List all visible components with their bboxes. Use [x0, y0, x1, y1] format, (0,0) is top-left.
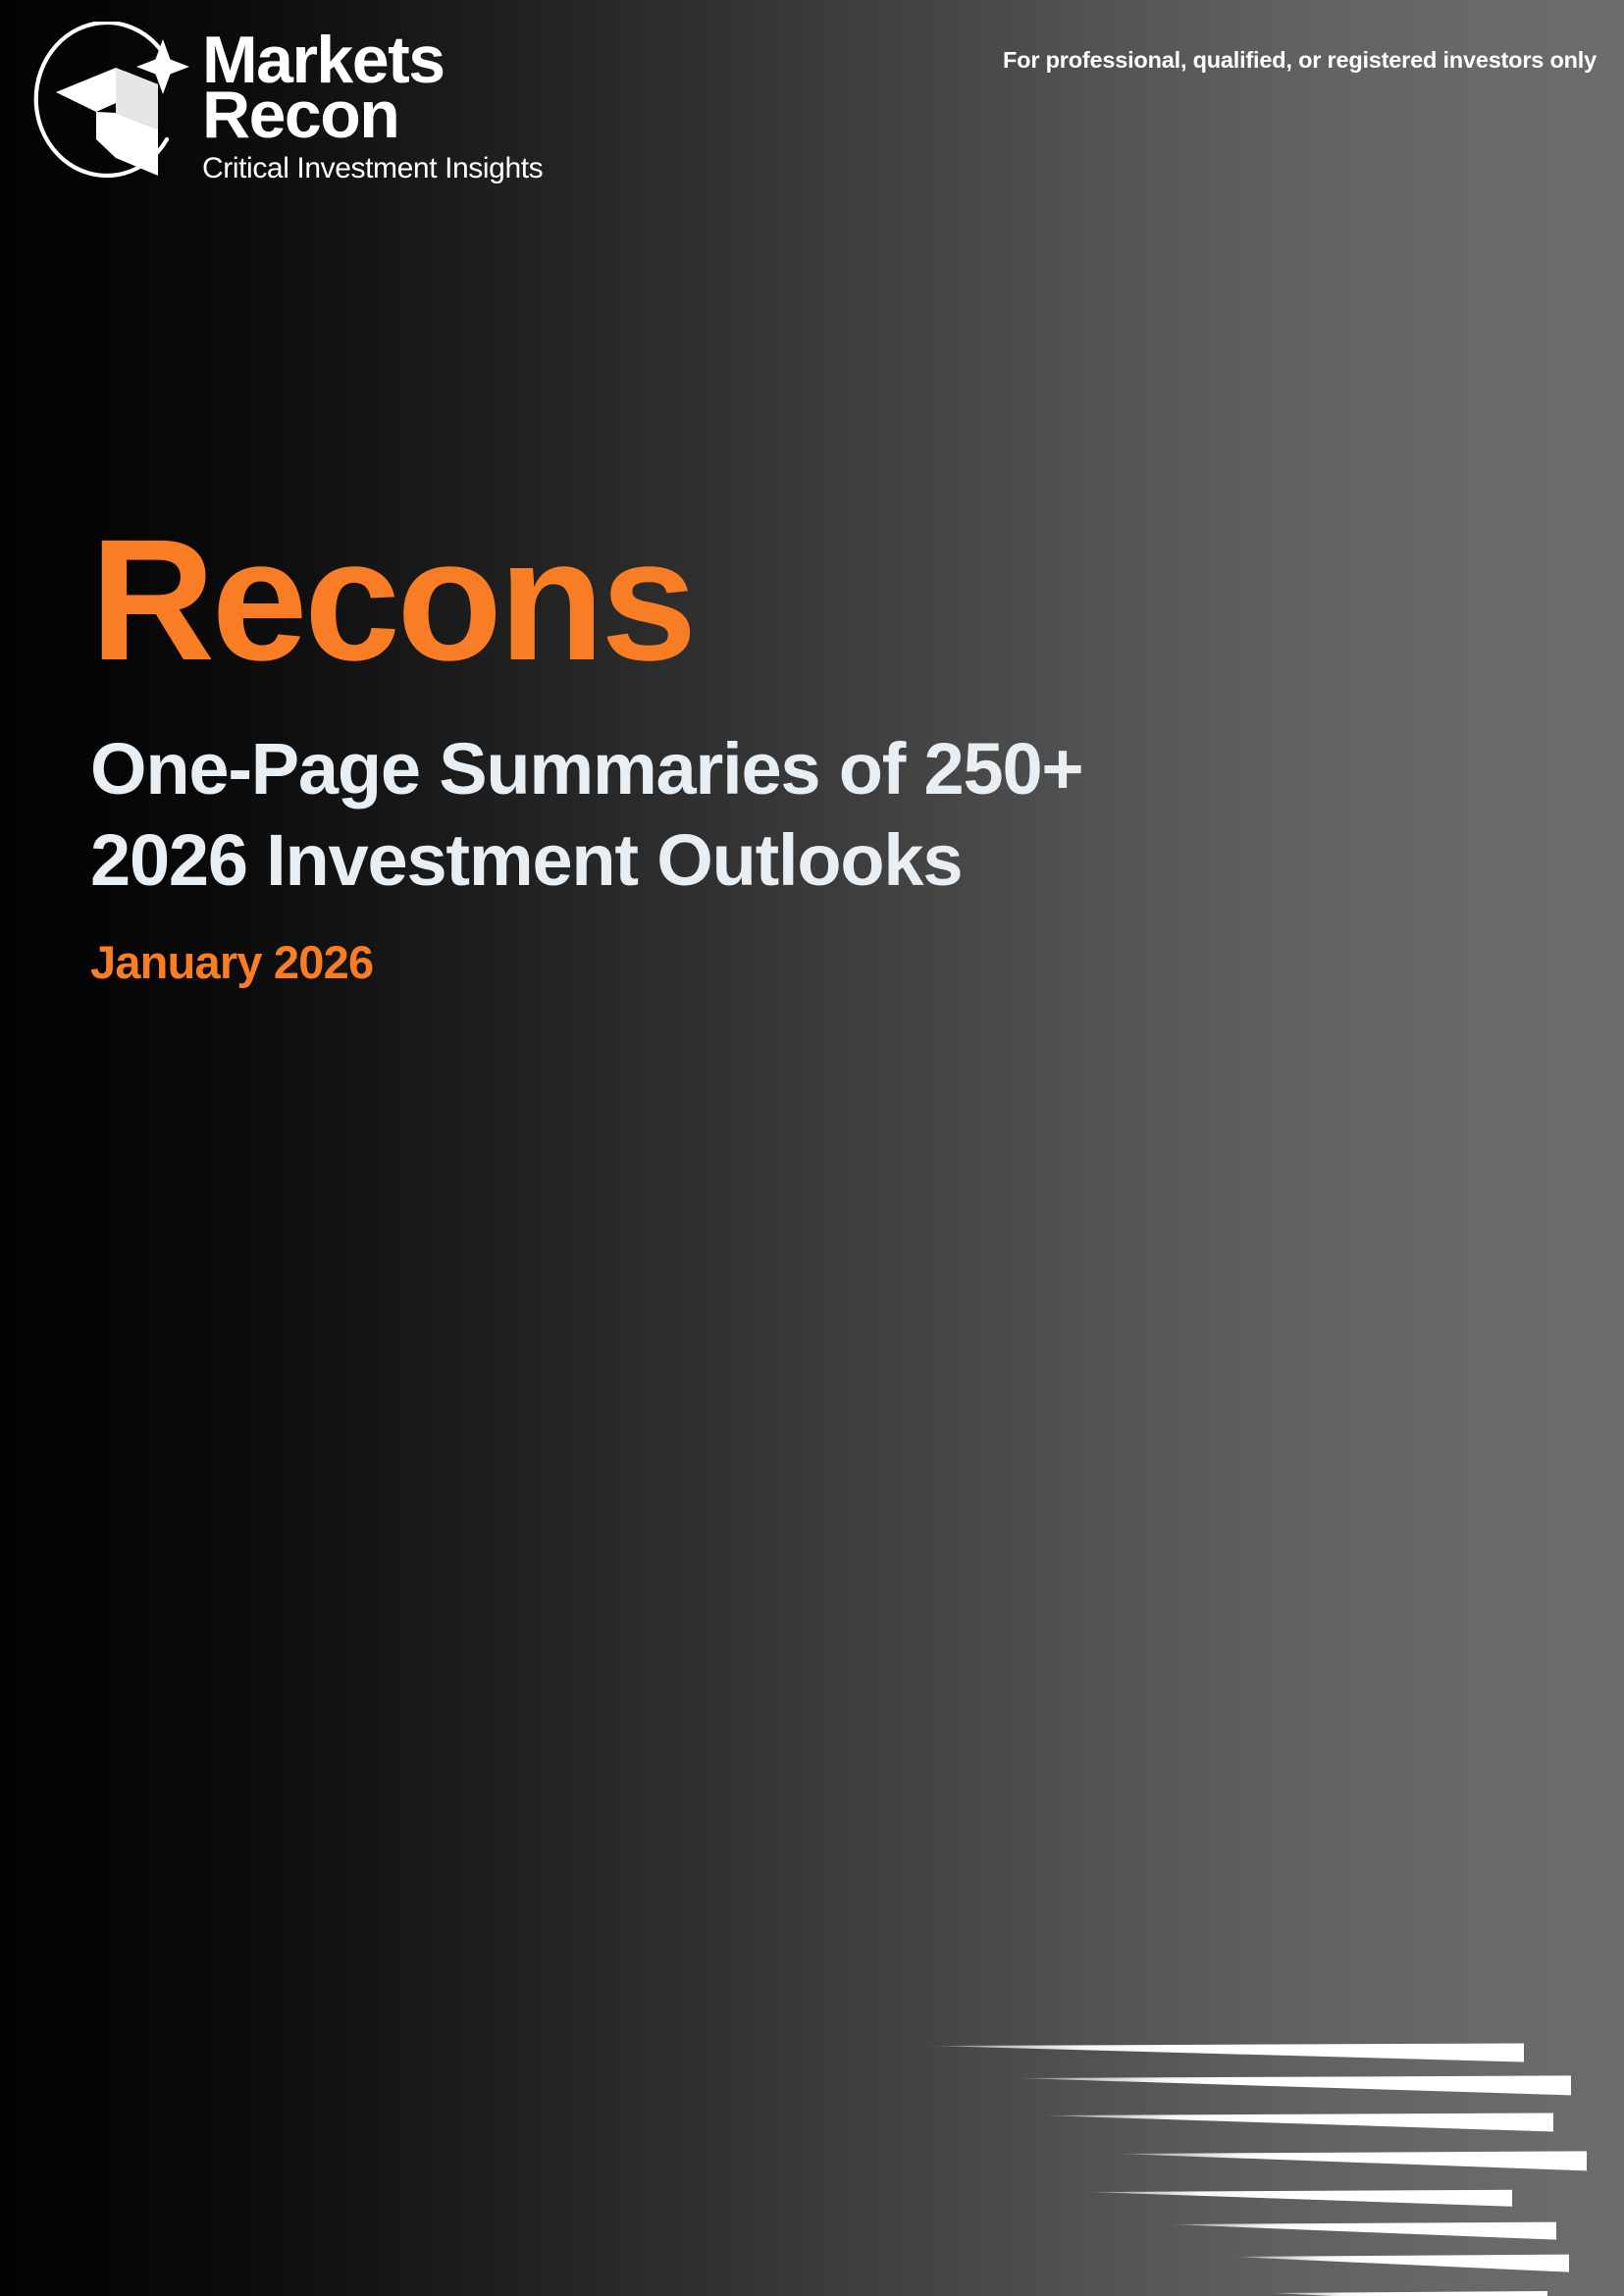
cover-page: Markets Recon Critical Investment Insigh… — [0, 0, 1624, 2296]
brand-tagline: Critical Investment Insights — [202, 154, 543, 183]
speed-streak-5 — [1088, 2190, 1512, 2207]
speed-streak-6 — [1170, 2222, 1556, 2240]
brand-wordmark: Markets Recon Critical Investment Insigh… — [202, 22, 543, 183]
cover-subtitle-line-2: 2026 Investment Outlooks — [90, 815, 1562, 907]
cover-subtitle: One-Page Summaries of 250+ 2026 Investme… — [90, 724, 1562, 906]
speed-streak-7 — [1233, 2255, 1569, 2272]
brand-name-line-2: Recon — [202, 88, 543, 143]
cover-subtitle-line-1: One-Page Summaries of 250+ — [90, 724, 1562, 815]
speed-streak-8 — [1270, 2291, 1547, 2296]
series-title: Recons — [90, 530, 1562, 671]
speed-streak-1 — [929, 2044, 1524, 2062]
speed-streak-3 — [1042, 2113, 1553, 2132]
cover-title-block: Recons One-Page Summaries of 250+ 2026 I… — [90, 530, 1562, 989]
markets-recon-logo-icon — [29, 22, 198, 190]
decorative-speed-streaks — [0, 0, 1624, 2296]
issue-date: January 2026 — [90, 935, 1562, 989]
brand-lockup: Markets Recon Critical Investment Insigh… — [29, 22, 543, 190]
speed-streak-2 — [1017, 2075, 1571, 2095]
audience-disclaimer: For professional, qualified, or register… — [1003, 47, 1597, 74]
speed-streak-4 — [1117, 2151, 1587, 2170]
